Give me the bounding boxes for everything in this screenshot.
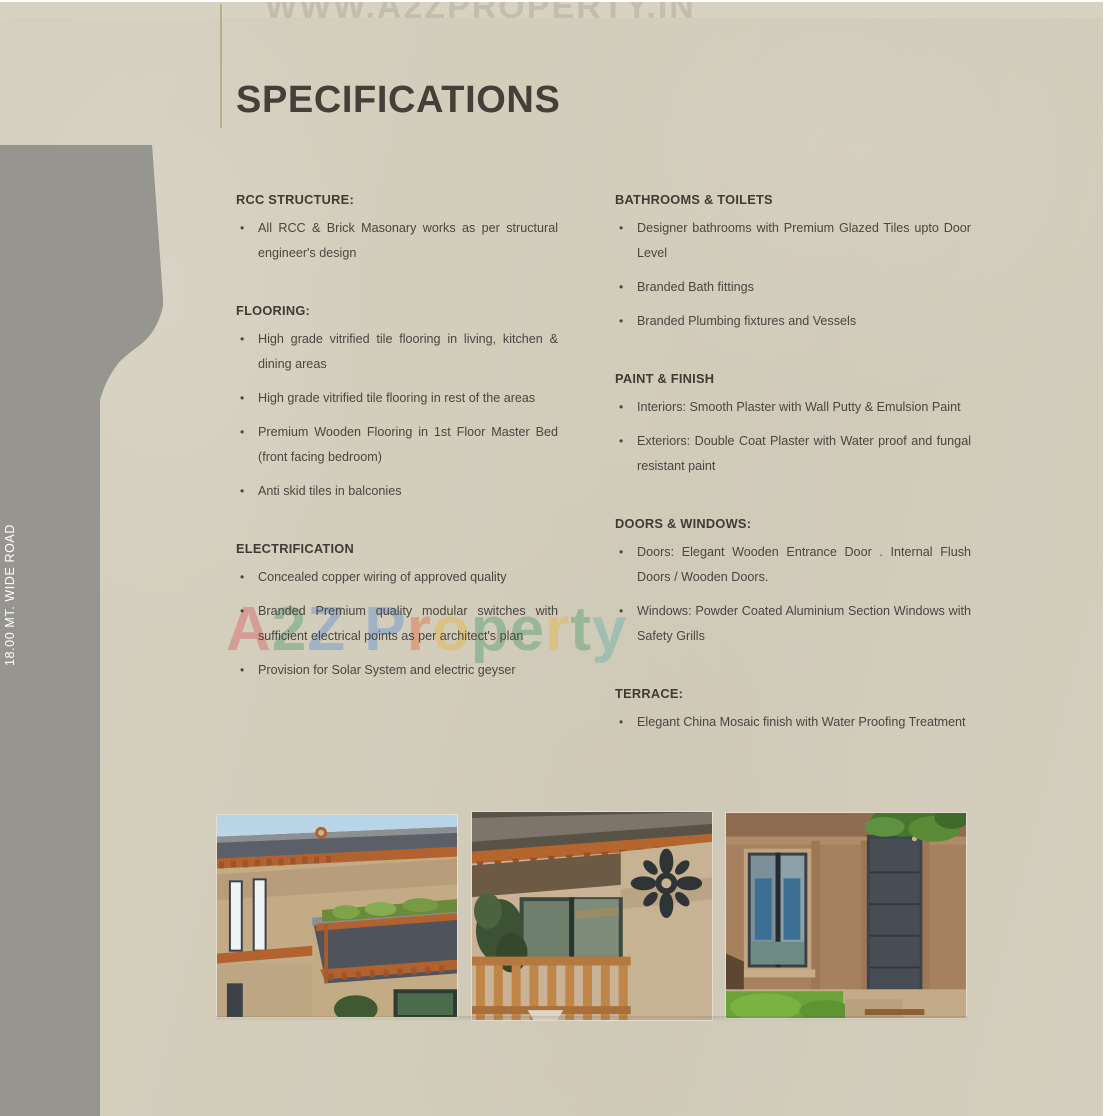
spec-section-heading: ELECTRIFICATION bbox=[236, 541, 558, 556]
section-spacer bbox=[615, 488, 971, 516]
spec-item-list: High grade vitrified tile flooring in li… bbox=[236, 327, 558, 504]
tiled-roof-exterior-photo bbox=[216, 814, 458, 1018]
spec-item: Elegant China Mosaic finish with Water P… bbox=[615, 710, 971, 735]
spec-item-list: Concealed copper wiring of approved qual… bbox=[236, 565, 558, 683]
spec-item: Concealed copper wiring of approved qual… bbox=[236, 565, 558, 590]
spec-section-heading: BATHROOMS & TOILETS bbox=[615, 192, 971, 207]
spec-item: Provision for Solar System and electric … bbox=[236, 658, 558, 683]
spec-section: FLOORING:High grade vitrified tile floor… bbox=[236, 303, 558, 504]
section-spacer bbox=[615, 658, 971, 686]
spec-item: Anti skid tiles in balconies bbox=[236, 479, 558, 504]
section-spacer bbox=[236, 275, 558, 303]
spec-item: Premium Wooden Flooring in 1st Floor Mas… bbox=[236, 420, 558, 470]
spec-item: High grade vitrified tile flooring in li… bbox=[236, 327, 558, 377]
spec-section: TERRACE:Elegant China Mosaic finish with… bbox=[615, 686, 971, 735]
spec-section: BATHROOMS & TOILETSDesigner bathrooms wi… bbox=[615, 192, 971, 334]
spec-section: RCC STRUCTURE:All RCC & Brick Masonary w… bbox=[236, 192, 558, 266]
title-accent-rule bbox=[220, 4, 222, 128]
section-spacer bbox=[615, 343, 971, 371]
spec-item: All RCC & Brick Masonary works as per st… bbox=[236, 216, 558, 266]
specifications-column-left: RCC STRUCTURE:All RCC & Brick Masonary w… bbox=[236, 192, 558, 692]
spec-item-list: All RCC & Brick Masonary works as per st… bbox=[236, 216, 558, 266]
page-title: SPECIFICATIONS bbox=[236, 79, 560, 122]
spec-item-list: Interiors: Smooth Plaster with Wall Putt… bbox=[615, 395, 971, 479]
entrance-door-window-photo bbox=[725, 812, 967, 1019]
spec-section: DOORS & WINDOWS:Doors: Elegant Wooden En… bbox=[615, 516, 971, 649]
spec-item-list: Designer bathrooms with Premium Glazed T… bbox=[615, 216, 971, 334]
spec-item: Branded Plumbing fixtures and Vessels bbox=[615, 309, 971, 334]
spec-section-heading: RCC STRUCTURE: bbox=[236, 192, 558, 207]
spec-item: Exteriors: Double Coat Plaster with Wate… bbox=[615, 429, 971, 479]
spec-section-heading: TERRACE: bbox=[615, 686, 971, 701]
specifications-column-right: BATHROOMS & TOILETSDesigner bathrooms wi… bbox=[615, 192, 971, 744]
road-label: 18.00 MT. WIDE ROAD bbox=[3, 486, 17, 666]
balcony-railing-photo bbox=[471, 811, 713, 1021]
photo-strip bbox=[216, 814, 968, 1018]
spec-section-heading: PAINT & FINISH bbox=[615, 371, 971, 386]
spec-item: High grade vitrified tile flooring in re… bbox=[236, 386, 558, 411]
spec-item-list: Elegant China Mosaic finish with Water P… bbox=[615, 710, 971, 735]
brochure-page: WWW.A2ZPROPERTY.IN 18.00 MT. WIDE ROAD S… bbox=[0, 0, 1110, 1116]
spec-item: Doors: Elegant Wooden Entrance Door . In… bbox=[615, 540, 971, 590]
page-top-edge bbox=[0, 0, 1110, 2]
spec-item: Windows: Powder Coated Aluminium Section… bbox=[615, 599, 971, 649]
spec-section: PAINT & FINISHInteriors: Smooth Plaster … bbox=[615, 371, 971, 479]
spec-item: Branded Premium quality modular switches… bbox=[236, 599, 558, 649]
spec-section-heading: FLOORING: bbox=[236, 303, 558, 318]
spec-item: Branded Bath fittings bbox=[615, 275, 971, 300]
page-right-edge bbox=[1103, 0, 1110, 1116]
section-spacer bbox=[236, 513, 558, 541]
spec-section: ELECTRIFICATIONConcealed copper wiring o… bbox=[236, 541, 558, 683]
spec-section-heading: DOORS & WINDOWS: bbox=[615, 516, 971, 531]
spec-item: Interiors: Smooth Plaster with Wall Putt… bbox=[615, 395, 971, 420]
spec-item: Designer bathrooms with Premium Glazed T… bbox=[615, 216, 971, 266]
spec-item-list: Doors: Elegant Wooden Entrance Door . In… bbox=[615, 540, 971, 649]
